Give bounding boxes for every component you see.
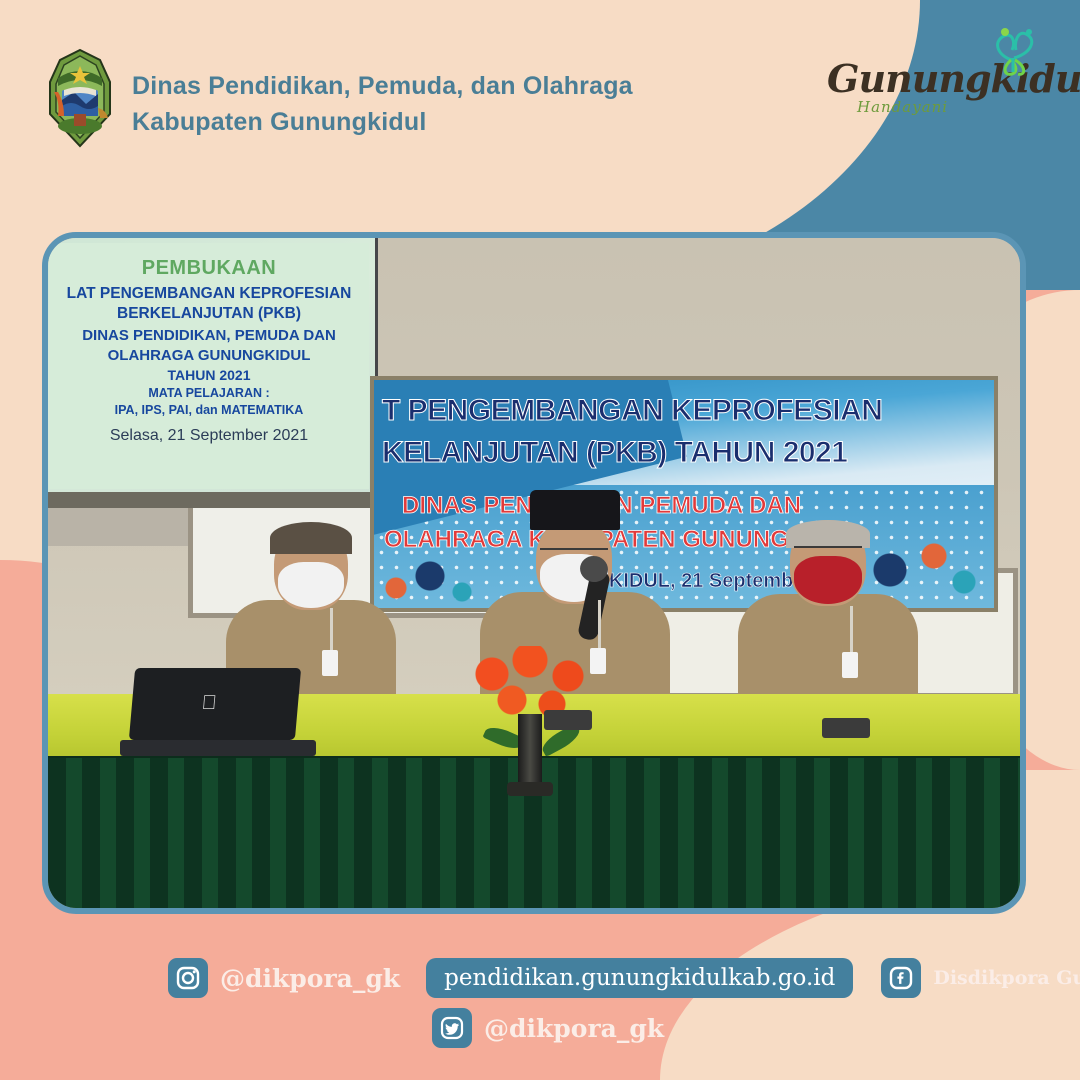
poster-canvas: Dinas Pendidikan, Pemuda, dan Olahraga K… [0, 0, 1080, 1080]
facebook-page-name[interactable]: Disdikpora Gunungkidul [933, 967, 1080, 989]
smartphone-on-table-icon [544, 710, 592, 730]
slide-line-4: OLAHRAGA GUNUNGKIDUL [49, 347, 369, 364]
slide-line-2: BERKELANJUTAN (PKB) [49, 305, 369, 323]
event-photo: PEMBUKAAN LAT PENGEMBANGAN KEPROFESIAN B… [42, 232, 1026, 914]
website-url-pill[interactable]: pendidikan.gunungkidulkab.go.id [426, 958, 853, 998]
slide-line-1: LAT PENGEMBANGAN KEPROFESIAN [49, 285, 369, 303]
dragonfly-flourish-icon [978, 20, 1048, 80]
projector-screen-frame [48, 492, 372, 508]
slide-heading: PEMBUKAAN [49, 257, 369, 280]
twitter-icon[interactable] [432, 1008, 472, 1048]
footer-row-twitter: @dikpora_gk [432, 1008, 664, 1048]
twitter-handle[interactable]: @dikpora_gk [484, 1014, 664, 1043]
slide-line-7: IPA, IPS, PAI, dan MATEMATIKA [49, 403, 369, 417]
title-line-2: Kabupaten Gunungkidul [132, 104, 633, 140]
apple-logo-icon:  [197, 692, 221, 716]
laptop-computer-icon:  [129, 668, 301, 740]
social-footer: @dikpora_gk pendidikan.gunungkidulkab.go… [0, 940, 1080, 1080]
title-line-1: Dinas Pendidikan, Pemuda, dan Olahraga [132, 68, 633, 104]
gunungkidul-regency-crest-icon [44, 48, 116, 148]
instagram-icon[interactable] [168, 958, 208, 998]
facebook-icon[interactable] [881, 958, 921, 998]
banner-line-1: T PENGEMBANGAN KEPROFESIAN [382, 394, 988, 428]
slide-line-3: DINAS PENDIDIKAN, PEMUDA DAN [49, 327, 369, 344]
slide-date: Selasa, 21 September 2021 [49, 427, 369, 445]
projector-screen: PEMBUKAAN LAT PENGEMBANGAN KEPROFESIAN B… [48, 238, 378, 498]
page-title: Dinas Pendidikan, Pemuda, dan Olahraga K… [132, 68, 633, 140]
slide-line-5: TAHUN 2021 [49, 367, 369, 383]
laptop-base [120, 740, 316, 756]
instagram-handle[interactable]: @dikpora_gk [220, 964, 400, 993]
gunungkidul-handayani-logo: Gunungkidul Handayani [827, 38, 1042, 124]
brand-tagline: Handayani [857, 98, 948, 116]
flower-vase-base [507, 782, 553, 796]
poster-header: Dinas Pendidikan, Pemuda, dan Olahraga K… [0, 0, 1080, 210]
smartphone-on-table-icon [822, 718, 870, 738]
flower-vase [518, 714, 542, 788]
slide-line-6: MATA PELAJARAN : [49, 386, 369, 400]
peci-hat [530, 490, 620, 530]
footer-row-primary: @dikpora_gk pendidikan.gunungkidulkab.go… [168, 958, 1080, 998]
banner-line-2: KELANJUTAN (PKB) TAHUN 2021 [382, 436, 988, 470]
